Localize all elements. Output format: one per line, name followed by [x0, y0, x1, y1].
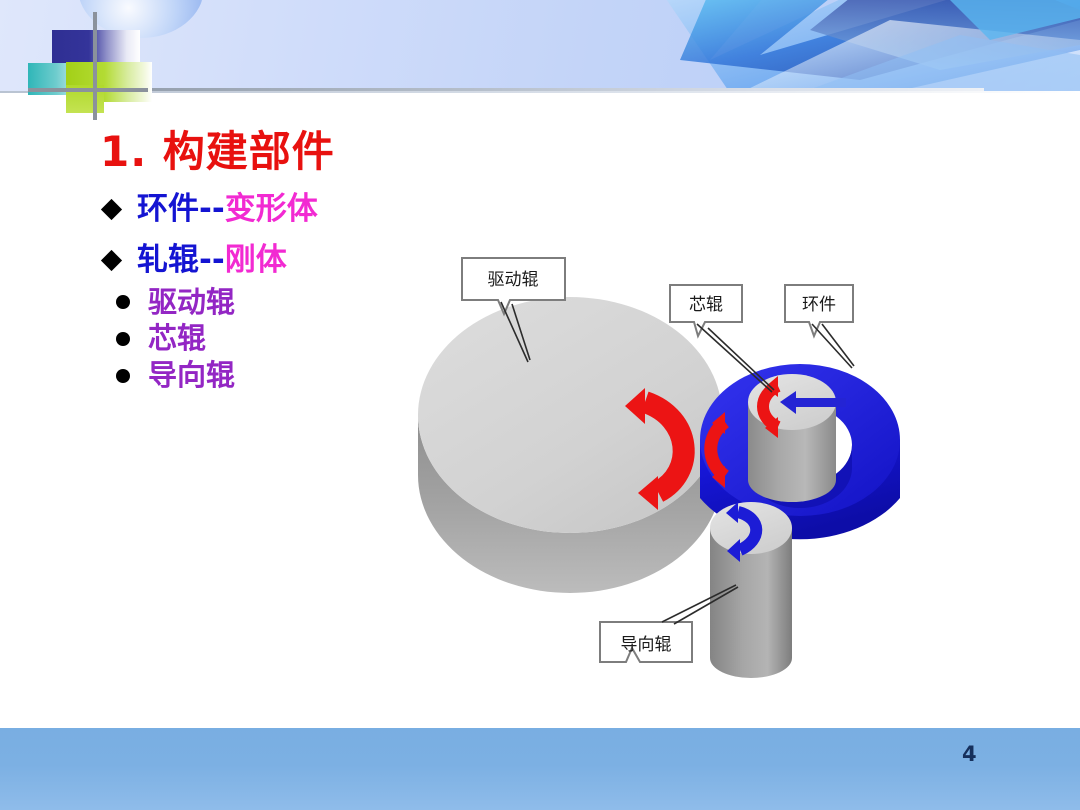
sub-bullet-label: 芯辊 — [148, 320, 206, 358]
sub-bullet-label: 驱动辊 — [148, 284, 235, 322]
logo-horizontal-line — [28, 88, 148, 92]
callout-label: 驱动辊 — [488, 270, 539, 290]
bullet-text-primary: 环件-- — [137, 191, 225, 227]
bullet-text-primary: 轧辊-- — [137, 242, 225, 278]
diamond-bullet-icon — [101, 199, 122, 220]
round-bullet-icon — [116, 332, 130, 346]
bullet-item-ring-part: 环件--变形体 — [104, 190, 484, 229]
ring-rolling-diagram: 驱动辊 芯辊 环件 导向辊 — [400, 240, 930, 690]
banner-swoosh-decoration — [560, 0, 1080, 93]
round-bullet-icon — [116, 295, 130, 309]
logo-vertical-line — [93, 12, 97, 120]
bullet-text-secondary: 刚体 — [225, 242, 287, 278]
callout-label: 芯辊 — [689, 295, 723, 315]
logo-decoration — [0, 0, 180, 120]
diamond-bullet-icon — [101, 250, 122, 271]
bullet-text-secondary: 变形体 — [225, 191, 318, 227]
page-title: 1. 构建部件 — [100, 118, 335, 179]
footer-bar — [0, 728, 1080, 810]
callout-label: 导向辊 — [621, 635, 672, 655]
sub-bullet-label: 导向辊 — [148, 357, 235, 395]
slide-canvas: 1. 构建部件 环件--变形体 轧辊--刚体 驱动辊 芯辊 导向辊 — [0, 0, 1080, 810]
callout-label: 环件 — [802, 295, 836, 315]
page-number: 4 — [962, 742, 977, 766]
callout-ring[interactable]: 环件 — [785, 285, 854, 368]
round-bullet-icon — [116, 369, 130, 383]
